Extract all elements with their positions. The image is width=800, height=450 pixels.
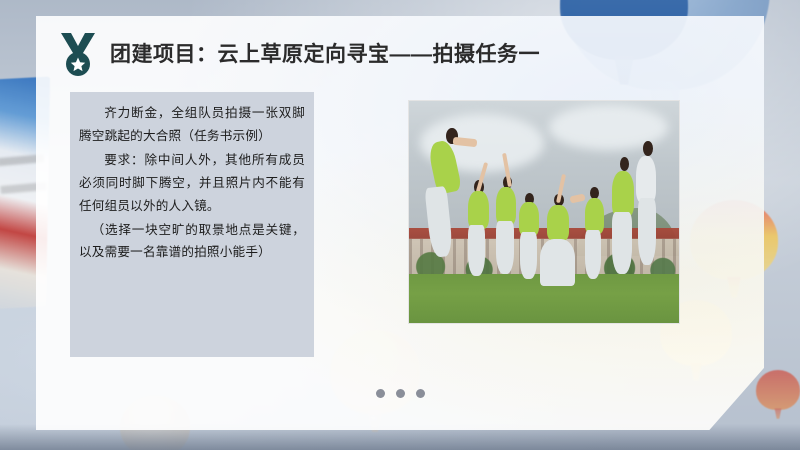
medal-star-icon xyxy=(58,31,98,77)
nav-dot-1[interactable] xyxy=(376,389,385,398)
task-description-panel: 齐力断金，全组队员拍摄一张双脚腾空跳起的大合照（任务书示例） 要求：除中间人外，… xyxy=(70,92,314,357)
task-paragraph-1: 齐力断金，全组队员拍摄一张双脚腾空跳起的大合照（任务书示例） xyxy=(79,102,305,148)
nav-dot-2[interactable] xyxy=(396,389,405,398)
example-photo xyxy=(408,100,680,324)
slide-nav-dots[interactable] xyxy=(36,389,764,398)
red-balloon-icon xyxy=(756,370,800,410)
page-title: 团建项目：云上草原定向寻宝——拍摄任务一 xyxy=(110,44,540,65)
task-paragraph-2: 要求：除中间人外，其他所有成员必须同时脚下腾空，并且照片内不能有任何组员以外的人… xyxy=(79,149,305,218)
photo-jumper-center xyxy=(539,190,580,288)
task-paragraph-3: （选择一块空旷的取景地点是关键，以及需要一名靠谱的拍照小能手） xyxy=(79,219,305,265)
presentation-slide: 团建项目：云上草原定向寻宝——拍摄任务一 齐力断金，全组队员拍摄一张双脚腾空跳起… xyxy=(0,0,800,450)
photo-jumper xyxy=(630,141,671,265)
slide-header: 团建项目：云上草原定向寻宝——拍摄任务一 xyxy=(36,26,764,82)
slide-card: 团建项目：云上草原定向寻宝——拍摄任务一 齐力断金，全组队员拍摄一张双脚腾空跳起… xyxy=(36,16,764,430)
nav-dot-3[interactable] xyxy=(416,389,425,398)
